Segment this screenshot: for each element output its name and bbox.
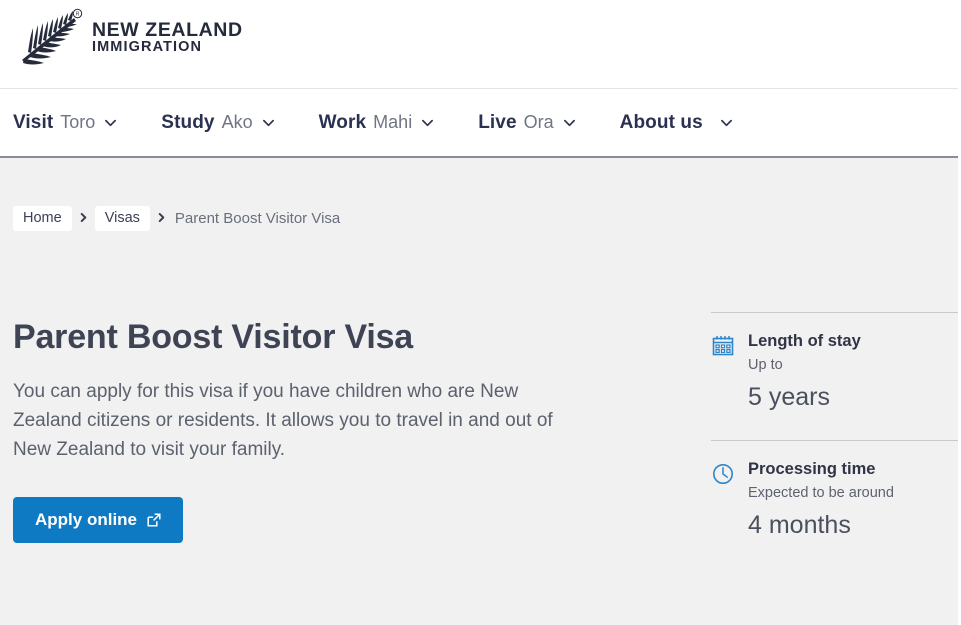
nav-item-work-label: Work — [319, 112, 367, 134]
fact-processing-time: Processing time Expected to be around 4 … — [711, 440, 958, 547]
logo-line-department: IMMIGRATION — [92, 40, 243, 56]
chevron-right-icon — [79, 212, 88, 225]
main-content: Parent Boost Visitor Visa You can apply … — [13, 318, 593, 543]
fact-header: Length of stay Up to — [711, 332, 958, 374]
nav-item-visit-label: Visit — [13, 112, 53, 134]
nav-item-about-us[interactable]: About us — [620, 112, 733, 134]
page-intro-text: You can apply for this visa if you have … — [13, 377, 573, 464]
chevron-down-icon — [563, 116, 576, 129]
fact-value-processing-time: 4 months — [711, 512, 958, 540]
nav-item-study-label: Study — [161, 112, 214, 134]
apply-online-label: Apply online — [35, 511, 137, 528]
nav-item-work[interactable]: Work Mahi — [319, 112, 435, 134]
site-header: R NEW ZEALAND IMMIGRATION — [0, 0, 958, 88]
nav-item-live[interactable]: Live Ora — [478, 112, 575, 134]
logo-line-country: NEW ZEALAND — [92, 20, 243, 40]
nav-item-visit-maori: Toro — [60, 112, 95, 133]
fact-value-length-of-stay: 5 years — [711, 384, 958, 412]
page-title: Parent Boost Visitor Visa — [13, 318, 593, 357]
nav-item-work-maori: Mahi — [373, 112, 412, 133]
breadcrumb-item-current: Parent Boost Visitor Visa — [173, 206, 342, 231]
visa-facts-sidebar: Length of stay Up to 5 years Processing … — [711, 312, 958, 548]
chevron-down-icon — [262, 116, 275, 129]
chevron-down-icon — [720, 116, 733, 129]
chevron-right-icon — [157, 212, 166, 225]
clock-icon — [711, 462, 735, 486]
breadcrumb-item-home[interactable]: Home — [13, 206, 72, 232]
fact-label-processing-time: Processing time — [748, 460, 958, 480]
external-link-icon — [147, 513, 161, 527]
chevron-down-icon — [421, 116, 434, 129]
fact-length-of-stay: Length of stay Up to 5 years — [711, 312, 958, 419]
fact-text-column: Processing time Expected to be around — [748, 460, 958, 502]
nav-item-live-maori: Ora — [524, 112, 554, 133]
fact-header: Processing time Expected to be around — [711, 460, 958, 502]
fact-text-column: Length of stay Up to — [748, 332, 958, 374]
calendar-icon — [711, 334, 735, 358]
breadcrumb: Home Visas Parent Boost Visitor Visa — [13, 205, 342, 232]
nav-item-study[interactable]: Study Ako — [161, 112, 274, 134]
nav-item-live-label: Live — [478, 112, 516, 134]
apply-online-button[interactable]: Apply online — [13, 497, 183, 543]
nav-item-visit[interactable]: Visit Toro — [13, 112, 117, 134]
silver-fern-icon: R — [14, 8, 86, 66]
svg-text:R: R — [76, 12, 80, 18]
breadcrumb-item-visas[interactable]: Visas — [95, 206, 150, 232]
site-logo[interactable]: R NEW ZEALAND IMMIGRATION — [14, 8, 243, 66]
nav-item-study-maori: Ako — [222, 112, 253, 133]
fact-sublabel-processing-time: Expected to be around — [748, 484, 958, 502]
nav-item-about-us-label: About us — [620, 112, 703, 134]
page-root: R NEW ZEALAND IMMIGRATION Visit Toro Stu… — [0, 0, 961, 625]
chevron-down-icon — [104, 116, 117, 129]
logo-wordmark: NEW ZEALAND IMMIGRATION — [92, 20, 243, 66]
fact-sublabel-length-of-stay: Up to — [748, 356, 958, 374]
main-navigation: Visit Toro Study Ako Work Mahi Live Ora — [0, 88, 958, 158]
fact-label-length-of-stay: Length of stay — [748, 332, 958, 352]
